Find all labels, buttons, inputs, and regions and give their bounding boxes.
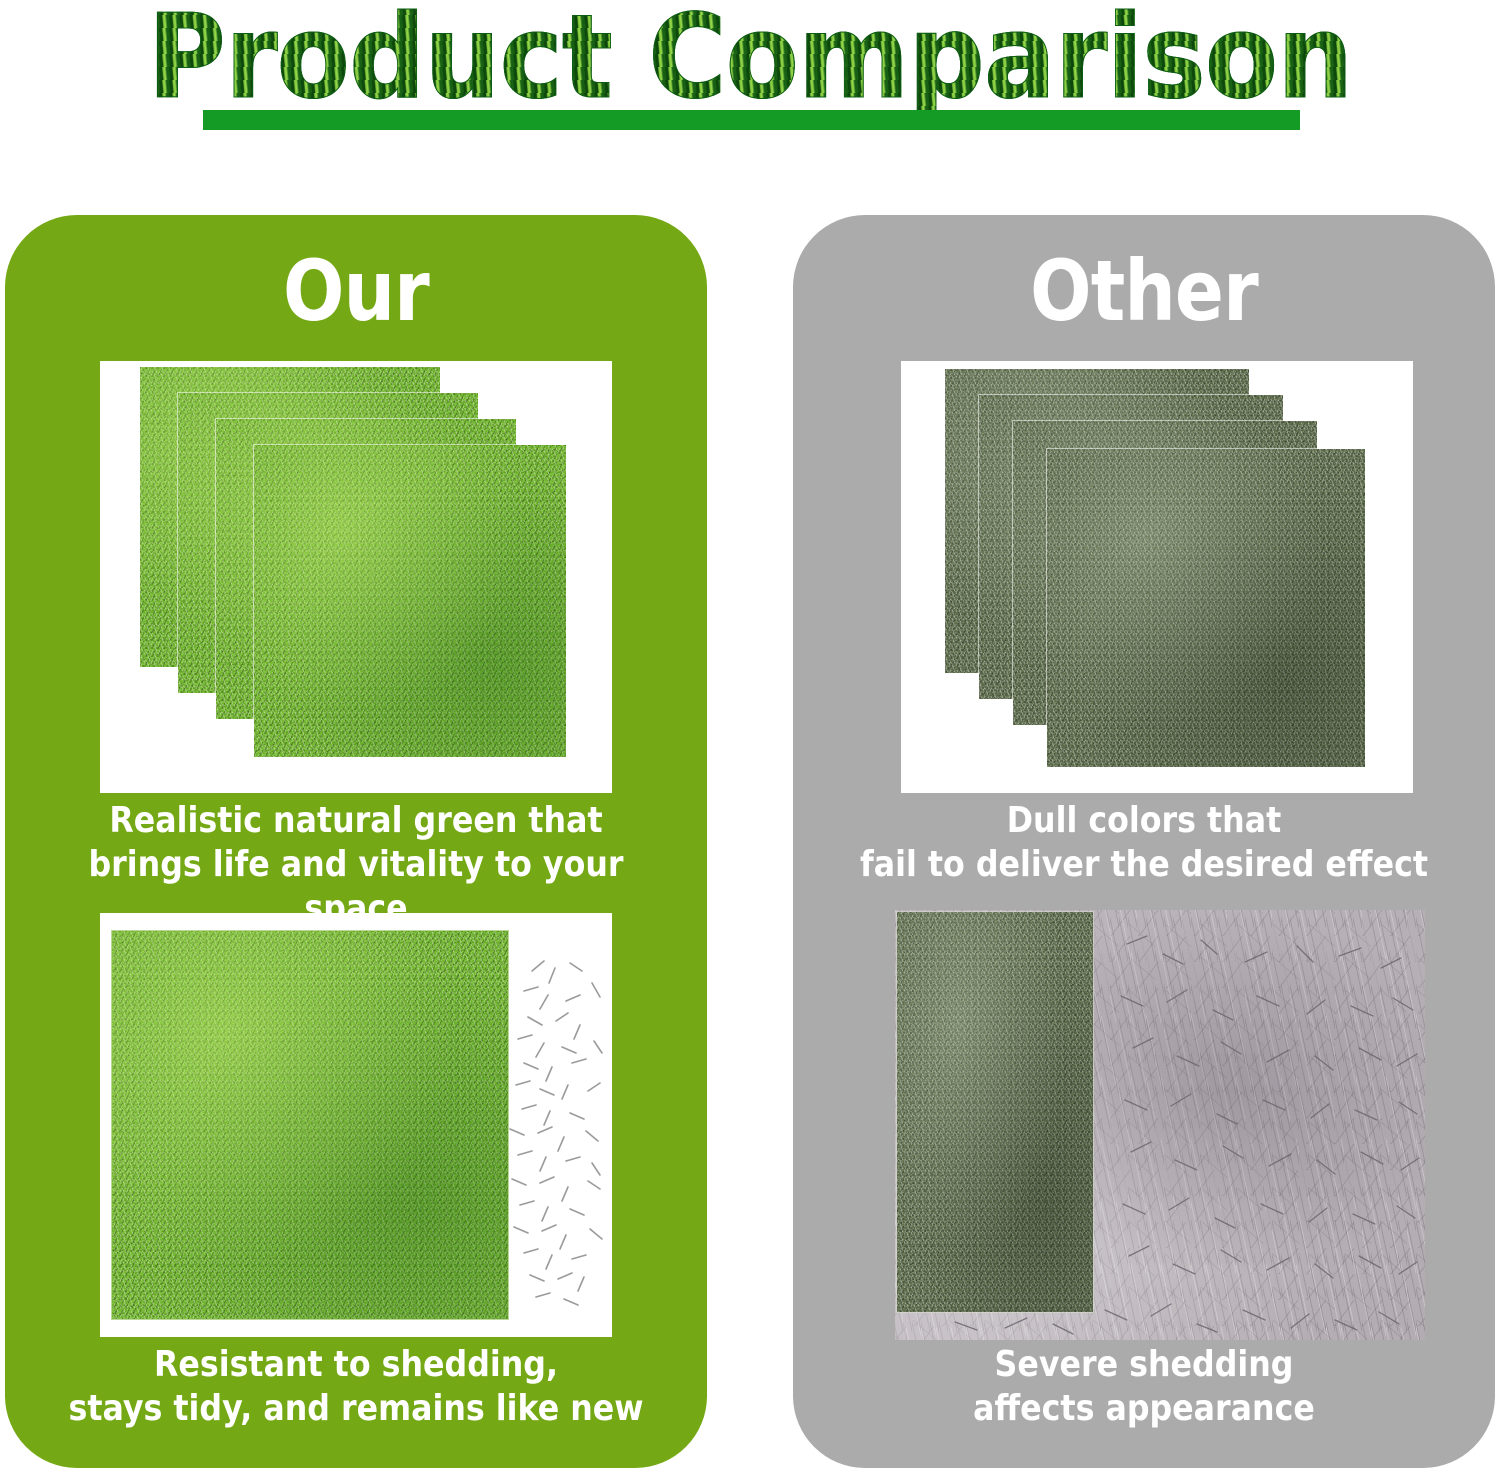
other-shedding-frame (895, 910, 1425, 1340)
our-stacked-tiles-frame (100, 361, 612, 793)
title-area: Product Comparison (0, 0, 1500, 200)
other-stacked-tiles-frame (901, 361, 1413, 793)
panel-our: Our Realistic natural green that brings … (5, 215, 707, 1468)
panel-other-heading: Other (842, 243, 1446, 339)
our-caption-1: Realistic natural green that brings life… (56, 799, 656, 931)
panel-other: Other Dull colors that fail to deliver t… (793, 215, 1495, 1468)
our-shedding-frame (100, 913, 612, 1337)
panel-our-heading: Our (54, 243, 658, 339)
shed-fibers-on-floor (895, 910, 1425, 1340)
our-loose-fibers (100, 913, 612, 1337)
other-grass-tile-4 (1047, 449, 1365, 767)
other-caption-1: Dull colors that fail to deliver the des… (844, 799, 1444, 887)
our-caption-2: Resistant to shedding, stays tidy, and r… (56, 1343, 656, 1431)
our-grass-tile-4 (254, 445, 566, 757)
title-underline-bar (203, 110, 1300, 130)
other-caption-2: Severe shedding affects appearance (844, 1343, 1444, 1431)
page-title: Product Comparison (60, 2, 1440, 114)
